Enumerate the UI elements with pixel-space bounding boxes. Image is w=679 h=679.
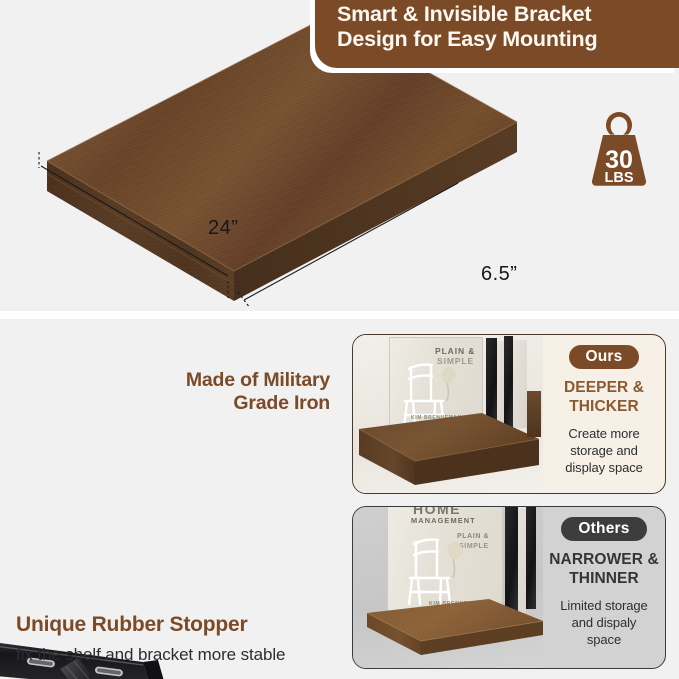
others-book-dark-1 <box>505 507 518 613</box>
ours-description: Create more storage and display space <box>565 425 642 476</box>
weight-icon: 30 LBS <box>576 106 662 190</box>
others-info: Others NARROWER & THINNER Limited storag… <box>543 507 665 668</box>
ours-badge: Ours <box>569 345 640 369</box>
ours-info: Ours DEEPER & THICKER Create more storag… <box>543 335 665 493</box>
ours-desc-line-1: Create more <box>568 426 639 441</box>
title-line-1: Smart & Invisible Bracket <box>337 2 679 27</box>
ours-photo: PLAIN & SIMPLE KIM BRENNEMAN <box>353 335 543 493</box>
military-line-1: Made of Military <box>186 369 330 391</box>
military-grade-heading: Made of Military Grade Iron <box>118 369 330 415</box>
rubber-stopper-subtext: fix the shelf and bracket more stable <box>16 645 285 665</box>
others-description: Limited storage and dispaly space <box>560 597 647 648</box>
ours-title-line-1: DEEPER & <box>564 379 644 396</box>
ours-shelf-thick <box>353 413 543 493</box>
others-desc-line-3: space <box>587 632 621 647</box>
ours-title-line-2: THICKER <box>569 398 639 415</box>
others-book-dark-2 <box>526 507 536 609</box>
title-banner: Smart & Invisible Bracket Design for Eas… <box>315 0 679 68</box>
shelf-length-label: 24” <box>208 217 238 240</box>
others-title-line-1: NARROWER & <box>549 551 659 568</box>
others-book-pale-1 <box>518 507 526 613</box>
shelf-depth-label: 6.5” <box>481 263 517 286</box>
infographic-root: 24” 6.5” Smart & Invisible Bracket Desig… <box>0 0 679 679</box>
rubber-stopper-heading: Unique Rubber Stopper <box>16 613 247 637</box>
weight-unit: LBS <box>605 170 634 186</box>
title-line-2: Design for Easy Mounting <box>337 27 679 52</box>
others-title-line-2: THINNER <box>569 570 639 587</box>
ours-title: DEEPER & THICKER <box>564 378 644 417</box>
others-chair-illustration <box>401 532 475 608</box>
ours-desc-line-3: display space <box>565 460 642 475</box>
others-badge: Others <box>561 517 646 541</box>
others-title: NARROWER & THINNER <box>549 550 659 589</box>
comparison-card-others: HOME MANAGEMENT PLAIN & SIMPLE <box>352 506 666 669</box>
others-desc-line-1: Limited storage <box>560 598 647 613</box>
others-photo: HOME MANAGEMENT PLAIN & SIMPLE <box>353 507 543 668</box>
others-book-title-1: MANAGEMENT <box>411 516 476 525</box>
military-line-2: Grade Iron <box>233 392 330 414</box>
ours-book-title-1: PLAIN & <box>435 346 475 356</box>
others-shelf-thin <box>355 599 543 668</box>
comparison-card-ours: PLAIN & SIMPLE KIM BRENNEMAN <box>352 334 666 494</box>
ours-desc-line-2: storage and <box>570 443 638 458</box>
weight-capacity-badge: 30 LBS <box>576 106 662 190</box>
top-panel: 24” 6.5” Smart & Invisible Bracket Desig… <box>0 0 679 311</box>
others-desc-line-2: and dispaly <box>572 615 637 630</box>
